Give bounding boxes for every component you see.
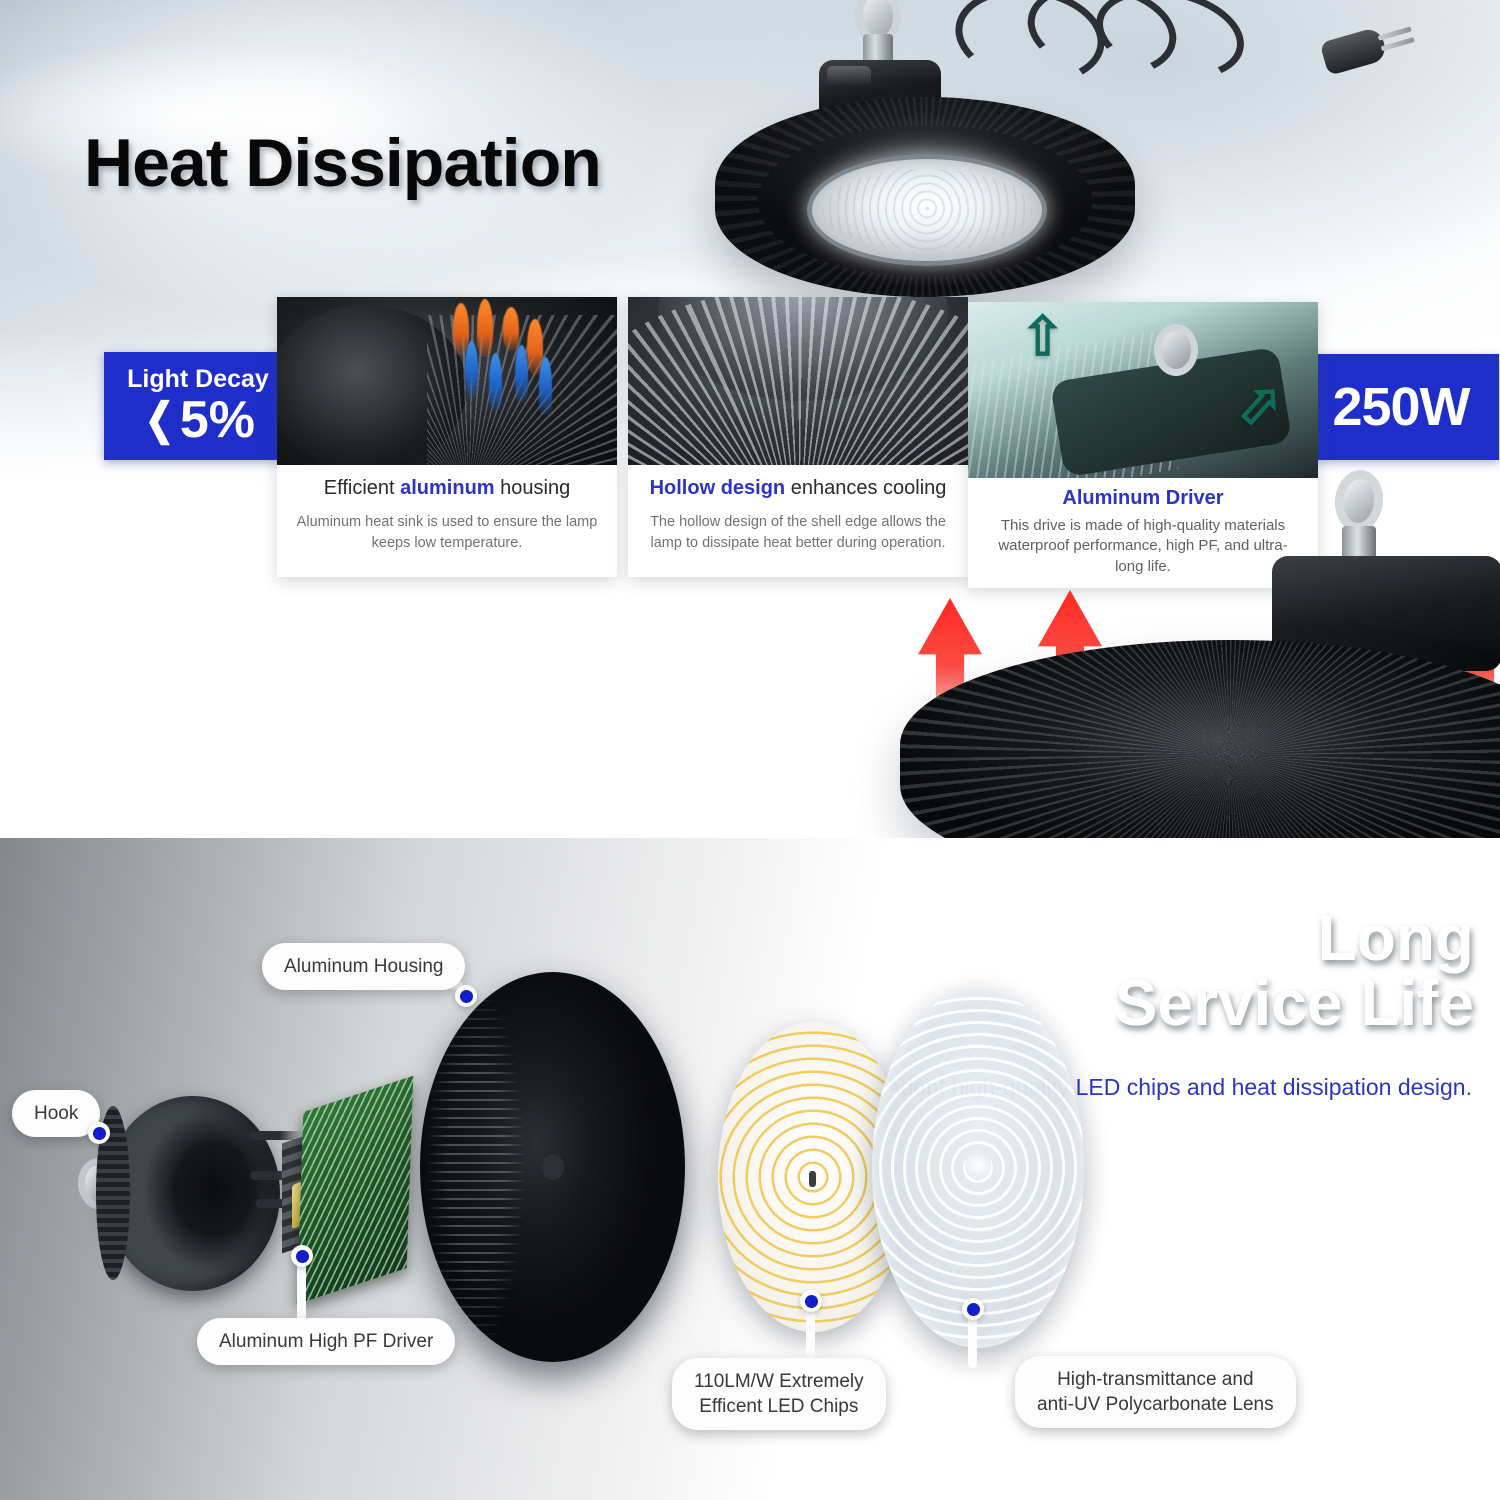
wattage-badge: 250W bbox=[1303, 354, 1499, 460]
callout-led-chips: 110LM/W Extremely Efficent LED Chips bbox=[672, 1358, 886, 1430]
feature-card-aluminum-housing: Efficient aluminum housing Aluminum heat… bbox=[277, 297, 617, 577]
callout-polycarbonate-lens: High-transmittance and anti-UV Polycarbo… bbox=[1015, 1356, 1296, 1428]
hollow-shell-edge-photo bbox=[628, 297, 968, 465]
hanging-ring-icon bbox=[1332, 468, 1386, 535]
callout-dot-lens bbox=[962, 1298, 984, 1320]
driver-pcb-part bbox=[297, 1076, 414, 1304]
section-title-line-1: Long bbox=[1318, 902, 1474, 974]
power-plug-icon bbox=[1320, 26, 1389, 76]
wattage-value: 250W bbox=[1332, 376, 1469, 438]
title-suffix: housing bbox=[495, 477, 571, 499]
light-decay-value-row: ❮ 5% bbox=[141, 394, 255, 446]
section-title-long-service-life: Long Service Life bbox=[1115, 908, 1474, 1035]
light-decay-value: 5% bbox=[180, 394, 255, 446]
hollow-fin-texture bbox=[628, 297, 968, 465]
polycarbonate-lens-part bbox=[872, 988, 1084, 1348]
callout-dot-aluminum-housing bbox=[455, 985, 477, 1007]
page-title: Heat Dissipation bbox=[84, 124, 601, 202]
aluminum-driver-photo: ⇧ ⇧ bbox=[968, 302, 1318, 478]
cool-air-arrow-icon-3 bbox=[515, 345, 528, 403]
hero-highbay-lamp-image bbox=[795, 0, 1435, 282]
waterproof-arrow-icon-1: ⇧ bbox=[1020, 310, 1065, 364]
cool-air-arrow-icon-2 bbox=[489, 353, 502, 411]
title-highlight: aluminum bbox=[400, 477, 494, 499]
heat-sink-airflow-photo bbox=[277, 297, 617, 465]
feature-card-title: Efficient aluminum housing bbox=[277, 465, 617, 500]
lamp-lens bbox=[807, 154, 1047, 266]
callout-dot-led-chips bbox=[800, 1290, 822, 1312]
lamp-fins bbox=[900, 640, 1500, 838]
driver-hanging-ring-icon bbox=[1154, 324, 1198, 376]
callout-aluminum-high-pf-driver: Aluminum High PF Driver bbox=[197, 1318, 455, 1365]
large-highbay-lamp-image bbox=[880, 470, 1500, 838]
feature-card-description: Aluminum heat sink is used to ensure the… bbox=[277, 500, 617, 554]
less-than-chevron-icon: ❮ bbox=[145, 398, 175, 442]
heat-arrow-icon-3 bbox=[503, 307, 519, 351]
callout-dot-driver bbox=[291, 1245, 313, 1267]
aluminum-housing-part bbox=[420, 972, 685, 1362]
cool-air-arrow-icon-1 bbox=[465, 341, 478, 399]
title-highlight: Hollow design bbox=[650, 477, 786, 499]
callout-dot-hook bbox=[88, 1122, 110, 1144]
title-prefix: Efficient bbox=[324, 477, 400, 499]
heat-arrow-icon-2 bbox=[477, 299, 493, 357]
cool-air-arrow-icon-4 bbox=[539, 357, 552, 415]
callout-hook: Hook bbox=[12, 1090, 100, 1137]
light-decay-label: Light Decay bbox=[127, 367, 269, 392]
section-title-line-2: Service Life bbox=[1115, 973, 1474, 1034]
heat-dissipation-section: Heat Dissipation Light Decay ❮ 5% 250W bbox=[0, 0, 1500, 838]
power-cord-loop-3 bbox=[1087, 0, 1252, 93]
light-decay-badge: Light Decay ❮ 5% bbox=[104, 352, 292, 460]
callout-aluminum-housing: Aluminum Housing bbox=[262, 943, 465, 990]
